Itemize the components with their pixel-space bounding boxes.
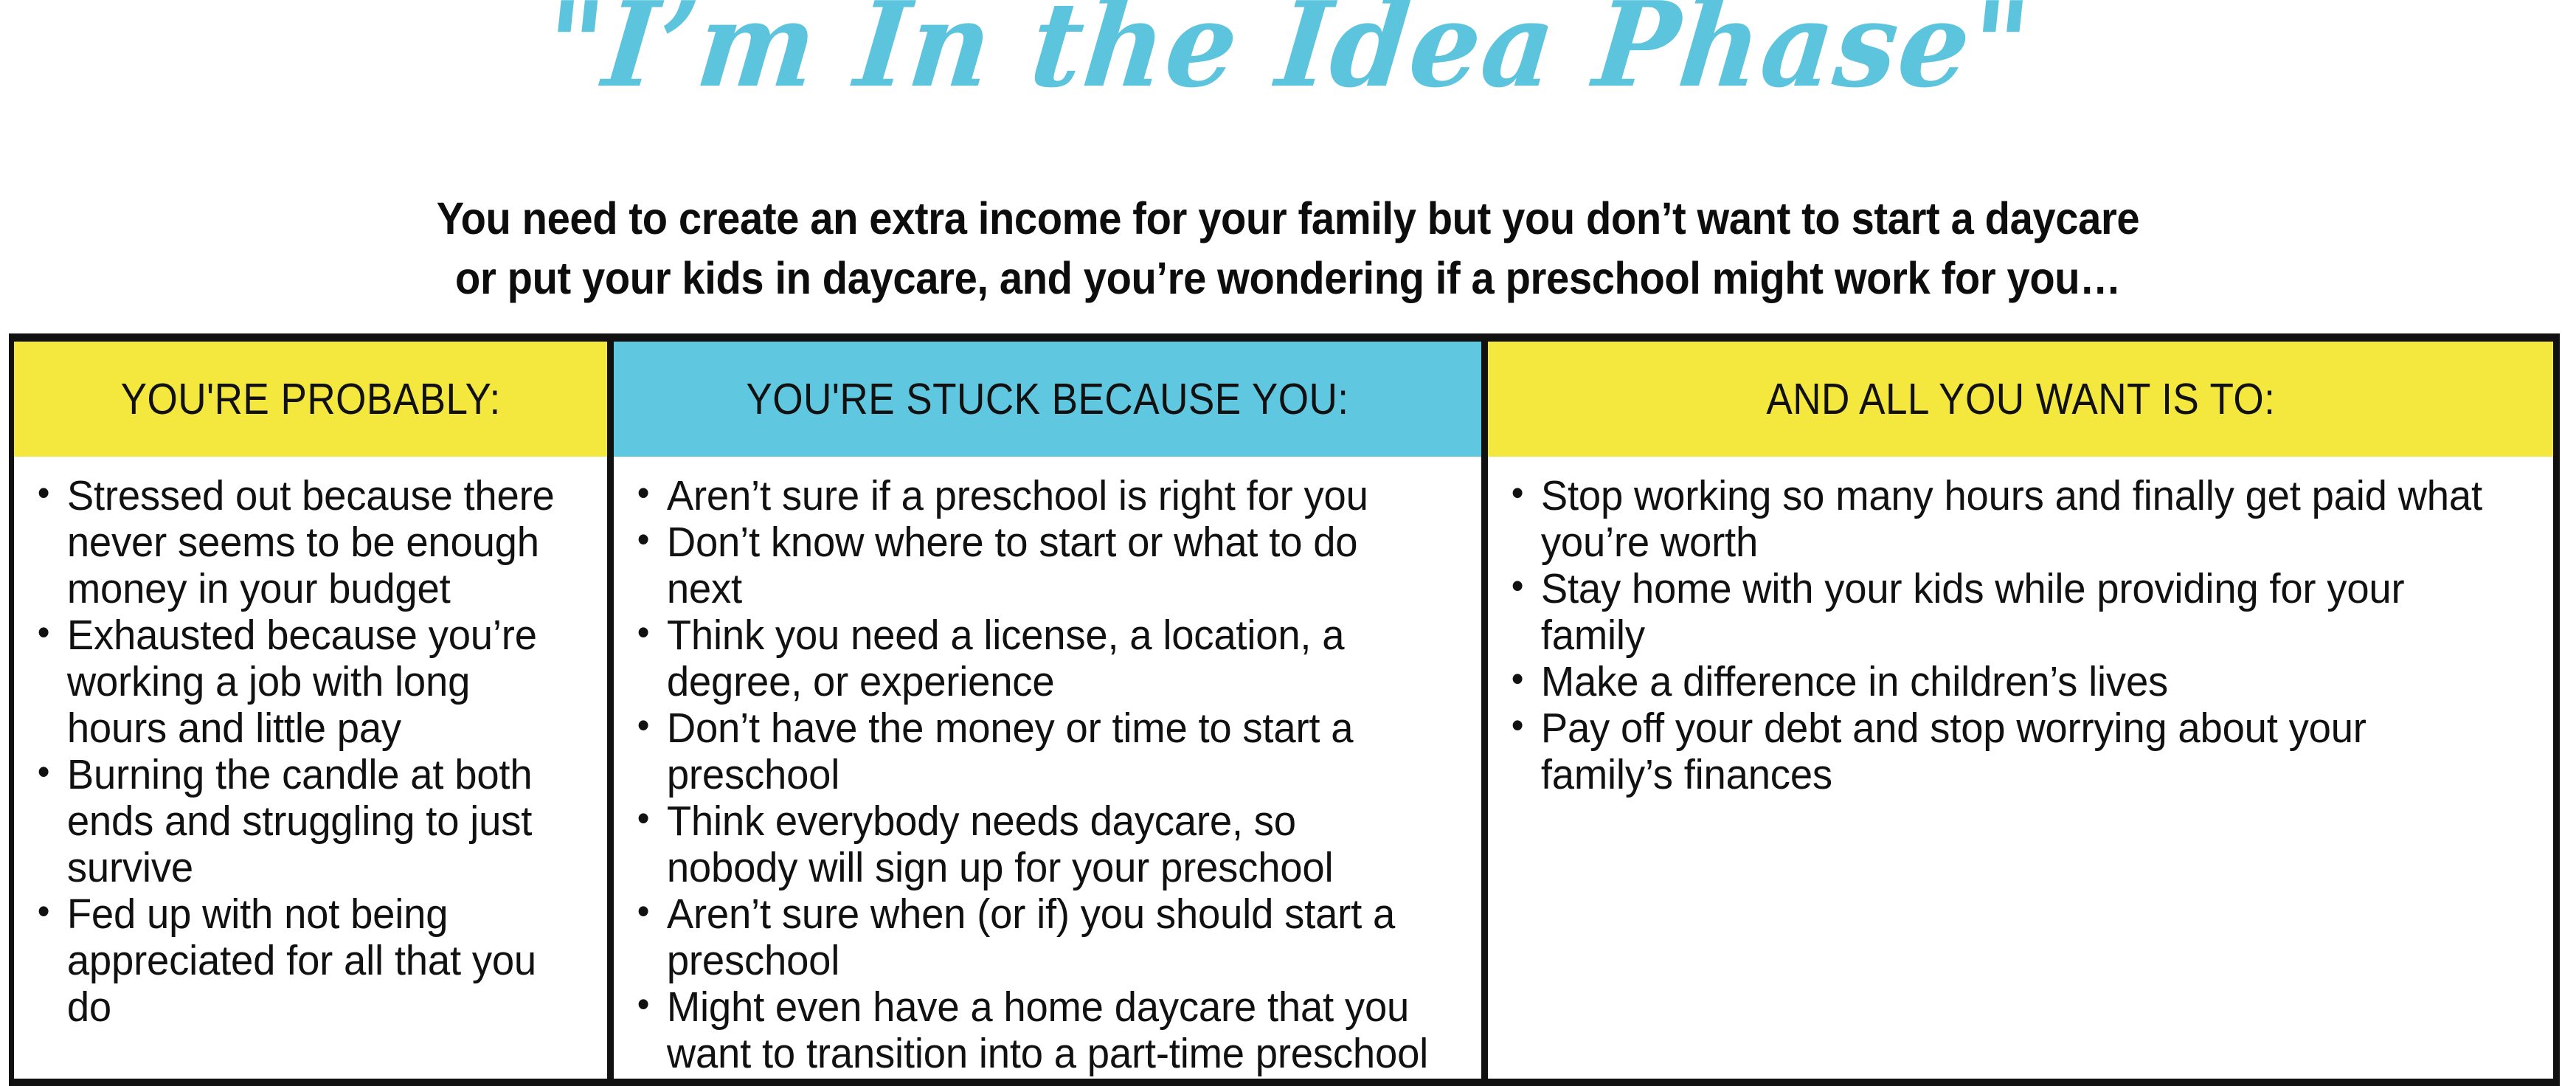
subtitle-block: You need to create an extra income for y… [103, 189, 2473, 308]
column-header-label: AND ALL YOU WANT IS TO: [1766, 378, 2275, 421]
list-item: Aren’t sure when (or if) you should star… [633, 891, 1433, 984]
list-item: Make a difference in children’s lives [1507, 659, 2495, 705]
list-item: Might even have a home daycare that you … [633, 984, 1433, 1077]
list-item: Think you need a license, a location, a … [633, 612, 1433, 705]
column-body-probably: Stressed out because there never seems t… [14, 457, 607, 1031]
list-item: Think everybody needs daycare, so nobody… [633, 798, 1433, 891]
three-column-table: YOU'RE PROBABLY: Stressed out because th… [9, 333, 2560, 1086]
list-item: Stop working so many hours and finally g… [1507, 473, 2495, 566]
list-item: Stay home with your kids while providing… [1507, 566, 2495, 659]
list-item: Don’t have the money or time to start a … [633, 705, 1433, 798]
page-title: "I’m In the Idea Phase" [540, 0, 2037, 104]
list-item: Pay off your debt and stop worrying abou… [1507, 705, 2495, 798]
column-header-probably: YOU'RE PROBABLY: [14, 342, 607, 457]
subtitle-line-2: or put your kids in daycare, and you’re … [103, 249, 2473, 308]
list-item: Burning the candle at both ends and stru… [33, 752, 569, 891]
column-header-want: AND ALL YOU WANT IS TO: [1488, 342, 2553, 457]
table-column-stuck: YOU'RE STUCK BECAUSE YOU: Aren’t sure if… [614, 342, 1489, 1086]
list-item: Don’t know where to start or what to do … [633, 519, 1433, 612]
column-header-label: YOU'RE PROBABLY: [120, 378, 500, 421]
table-column-probably: YOU'RE PROBABLY: Stressed out because th… [14, 342, 614, 1086]
table-bottom-border [9, 1079, 2560, 1086]
list-item: Exhausted because you’re working a job w… [33, 612, 569, 752]
bullet-list-want: Stop working so many hours and finally g… [1507, 473, 2541, 798]
list-item: Stressed out because there never seems t… [33, 473, 569, 612]
subtitle-line-1: You need to create an extra income for y… [103, 189, 2473, 249]
column-body-stuck: Aren’t sure if a preschool is right for … [614, 457, 1482, 1077]
column-header-stuck: YOU'RE STUCK BECAUSE YOU: [614, 342, 1482, 457]
list-item: Aren’t sure if a preschool is right for … [633, 473, 1433, 519]
bullet-list-stuck: Aren’t sure if a preschool is right for … [633, 473, 1470, 1077]
bullet-list-probably: Stressed out because there never seems t… [33, 473, 595, 1031]
list-item: Fed up with not being appreciated for al… [33, 891, 569, 1031]
column-header-label: YOU'RE STUCK BECAUSE YOU: [746, 378, 1348, 421]
table-column-want: AND ALL YOU WANT IS TO: Stop working so … [1488, 342, 2553, 1086]
column-body-want: Stop working so many hours and finally g… [1488, 457, 2553, 798]
slide-page: "I’m In the Idea Phase" You need to crea… [0, 0, 2576, 1086]
title-container: "I’m In the Idea Phase" [0, 0, 2576, 100]
